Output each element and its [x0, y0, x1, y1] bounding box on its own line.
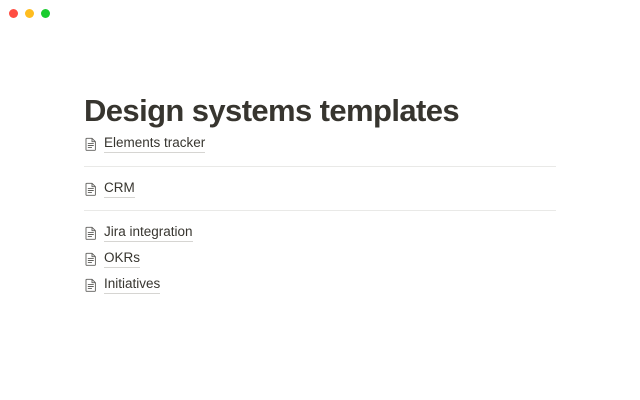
list-item-label[interactable]: OKRs: [104, 249, 140, 268]
list-item-label[interactable]: Elements tracker: [104, 134, 205, 153]
list-divider: [84, 210, 556, 211]
list-item[interactable]: OKRs: [84, 248, 556, 269]
list-item[interactable]: CRM: [84, 178, 556, 199]
app-window: Design systems templates Elements tracke…: [0, 0, 640, 400]
list-divider: [84, 166, 556, 167]
document-icon: [84, 182, 98, 196]
list-item[interactable]: Initiatives: [84, 274, 556, 295]
document-icon: [84, 226, 98, 240]
document-icon: [84, 137, 98, 151]
list-item-label[interactable]: Initiatives: [104, 275, 160, 294]
template-link-list: Elements tracker CRM: [84, 133, 556, 295]
document-icon: [84, 252, 98, 266]
list-item[interactable]: Elements tracker: [84, 133, 556, 154]
list-item[interactable]: Jira integration: [84, 222, 556, 243]
list-item-label[interactable]: CRM: [104, 179, 135, 198]
document-icon: [84, 278, 98, 292]
page-title: Design systems templates: [84, 92, 459, 130]
page-content: Design systems templates Elements tracke…: [0, 0, 640, 400]
list-item-label[interactable]: Jira integration: [104, 223, 193, 242]
